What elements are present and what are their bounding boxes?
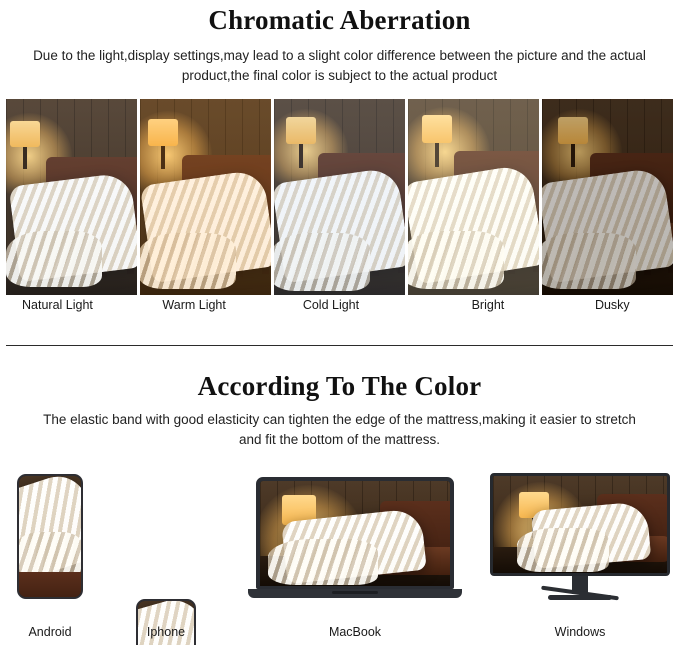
lighting-image-warm-light xyxy=(140,99,271,295)
lighting-image-natural-light xyxy=(6,99,137,295)
section-divider xyxy=(6,345,673,346)
product-detail-page: Chromatic Aberration Due to the light,di… xyxy=(0,0,679,645)
device-label-macbook: MacBook xyxy=(275,625,435,639)
chromatic-aberration-title: Chromatic Aberration xyxy=(0,5,679,36)
according-to-the-color-subtitle: The elastic band with good elasticity ca… xyxy=(30,410,649,449)
lighting-label-natural-light: Natural Light xyxy=(6,298,143,312)
lighting-label-bright: Bright xyxy=(427,298,548,312)
lighting-image-dusky xyxy=(542,99,673,295)
according-to-the-color-title: According To The Color xyxy=(0,371,679,402)
lighting-image-cold-light xyxy=(274,99,405,295)
device-macbook xyxy=(248,477,462,605)
lighting-label-cold-light: Cold Light xyxy=(287,298,424,312)
lighting-labels-row: Natural Light Warm Light Cold Light Brig… xyxy=(6,298,673,312)
chromatic-aberration-subtitle: Due to the light,display settings,may le… xyxy=(18,46,661,85)
lighting-label-dusky: Dusky xyxy=(552,298,673,312)
lighting-image-bright xyxy=(408,99,539,295)
lighting-image-strip xyxy=(6,99,673,295)
device-label-iphone: Iphone xyxy=(86,625,246,639)
device-android-phone xyxy=(17,474,83,599)
device-preview-row: Android Iphone xyxy=(0,465,679,620)
monitor-stand-base xyxy=(548,595,612,600)
device-windows-monitor xyxy=(490,473,670,605)
device-label-windows: Windows xyxy=(500,625,660,639)
lighting-label-warm-light: Warm Light xyxy=(146,298,283,312)
